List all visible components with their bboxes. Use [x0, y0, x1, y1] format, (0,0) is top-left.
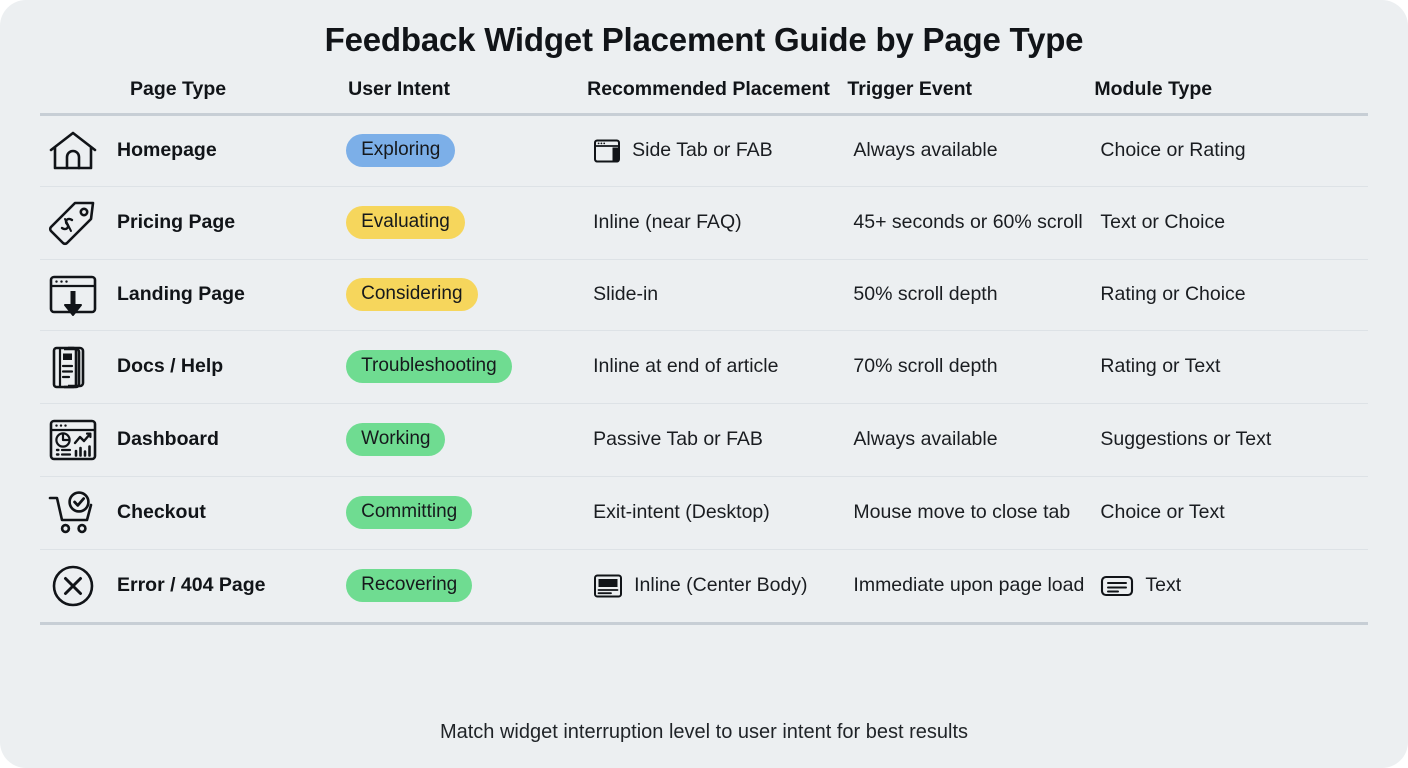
- status-badge: Troubleshooting: [346, 350, 512, 382]
- page-type-label: Checkout: [117, 500, 206, 525]
- landing-page-download-icon: [46, 273, 100, 317]
- table-row: Error / 404 Page Recovering Inline (Cent…: [40, 549, 1368, 623]
- cell-module: Choice or Text: [1094, 476, 1368, 549]
- cell-module: Text or Choice: [1094, 186, 1368, 259]
- cell-placement: Passive Tab or FAB: [587, 403, 847, 476]
- documents-icon: [46, 344, 100, 390]
- cell-placement: Slide-in: [587, 259, 847, 330]
- guide-card: Feedback Widget Placement Guide by Page …: [0, 0, 1408, 768]
- column-header-page-type: Page Type: [40, 78, 340, 115]
- cell-trigger: Immediate upon page load: [847, 549, 1094, 623]
- cell-trigger: Always available: [847, 114, 1094, 186]
- cell-page-type: Dashboard: [40, 403, 340, 476]
- cell-module: Rating or Choice: [1094, 259, 1368, 330]
- cell-page-type: Homepage: [40, 114, 340, 186]
- placement-guide-table: Page Type User Intent Recommended Placem…: [40, 78, 1368, 625]
- cell-user-intent: Working: [340, 403, 587, 476]
- module-label: Text: [1145, 573, 1181, 598]
- page-type-label: Error / 404 Page: [117, 573, 266, 598]
- cell-user-intent: Evaluating: [340, 186, 587, 259]
- cell-trigger: Always available: [847, 403, 1094, 476]
- table-body: Homepage Exploring: [40, 114, 1368, 623]
- cell-trigger: Mouse move to close tab: [847, 476, 1094, 549]
- table-row: Landing Page Considering Slide-in 50% sc…: [40, 259, 1368, 330]
- status-badge: Working: [346, 423, 445, 455]
- status-badge: Considering: [346, 278, 477, 310]
- text-module-icon: [1100, 574, 1134, 598]
- page-title: Feedback Widget Placement Guide by Page …: [40, 0, 1368, 60]
- circle-x-icon: [46, 563, 100, 609]
- status-badge: Exploring: [346, 134, 455, 166]
- cell-module: Text: [1094, 549, 1368, 623]
- page-type-label: Docs / Help: [117, 354, 223, 379]
- placement-label: Inline (Center Body): [634, 573, 807, 598]
- column-header-recommended-placement: Recommended Placement: [587, 78, 847, 115]
- placement-label: Side Tab or FAB: [632, 138, 773, 163]
- cell-user-intent: Troubleshooting: [340, 330, 587, 403]
- cell-user-intent: Committing: [340, 476, 587, 549]
- status-badge: Evaluating: [346, 206, 465, 238]
- footer-note: Match widget interruption level to user …: [0, 721, 1408, 744]
- table-row: Docs / Help Troubleshooting Inline at en…: [40, 330, 1368, 403]
- cell-trigger: 50% scroll depth: [847, 259, 1094, 330]
- cell-placement: Inline (Center Body): [587, 549, 847, 623]
- dashboard-charts-icon: [46, 417, 100, 463]
- cell-page-type: Pricing Page: [40, 186, 340, 259]
- page-type-label: Pricing Page: [117, 210, 235, 235]
- home-icon: [46, 129, 100, 173]
- column-header-module-type: Module Type: [1094, 78, 1368, 115]
- shopping-cart-check-icon: [46, 490, 100, 536]
- cell-module: Suggestions or Text: [1094, 403, 1368, 476]
- column-header-user-intent: User Intent: [340, 78, 587, 115]
- price-tag-icon: [46, 200, 100, 246]
- cell-trigger: 45+ seconds or 60% scroll: [847, 186, 1094, 259]
- cell-trigger: 70% scroll depth: [847, 330, 1094, 403]
- cell-user-intent: Exploring: [340, 114, 587, 186]
- table-row: Dashboard Working Passive Tab or FAB Alw…: [40, 403, 1368, 476]
- page-type-label: Dashboard: [117, 427, 219, 452]
- cell-user-intent: Considering: [340, 259, 587, 330]
- table-row: Checkout Committing Exit-intent (Desktop…: [40, 476, 1368, 549]
- inline-center-body-icon: [593, 573, 623, 599]
- cell-user-intent: Recovering: [340, 549, 587, 623]
- status-badge: Recovering: [346, 569, 472, 601]
- cell-placement: Inline at end of article: [587, 330, 847, 403]
- cell-page-type: Landing Page: [40, 259, 340, 330]
- cell-placement: Inline (near FAQ): [587, 186, 847, 259]
- cell-module: Choice or Rating: [1094, 114, 1368, 186]
- cell-placement: Side Tab or FAB: [587, 114, 847, 186]
- page-type-label: Homepage: [117, 138, 217, 163]
- cell-page-type: Checkout: [40, 476, 340, 549]
- cell-page-type: Docs / Help: [40, 330, 340, 403]
- page-type-label: Landing Page: [117, 282, 245, 307]
- side-tab-window-icon: [593, 138, 621, 164]
- cell-placement: Exit-intent (Desktop): [587, 476, 847, 549]
- cell-page-type: Error / 404 Page: [40, 549, 340, 623]
- status-badge: Committing: [346, 496, 472, 528]
- table-row: Pricing Page Evaluating Inline (near FAQ…: [40, 186, 1368, 259]
- column-header-trigger-event: Trigger Event: [847, 78, 1094, 115]
- cell-module: Rating or Text: [1094, 330, 1368, 403]
- table-row: Homepage Exploring: [40, 114, 1368, 186]
- table-header: Page Type User Intent Recommended Placem…: [40, 78, 1368, 115]
- header-row: Page Type User Intent Recommended Placem…: [40, 78, 1368, 115]
